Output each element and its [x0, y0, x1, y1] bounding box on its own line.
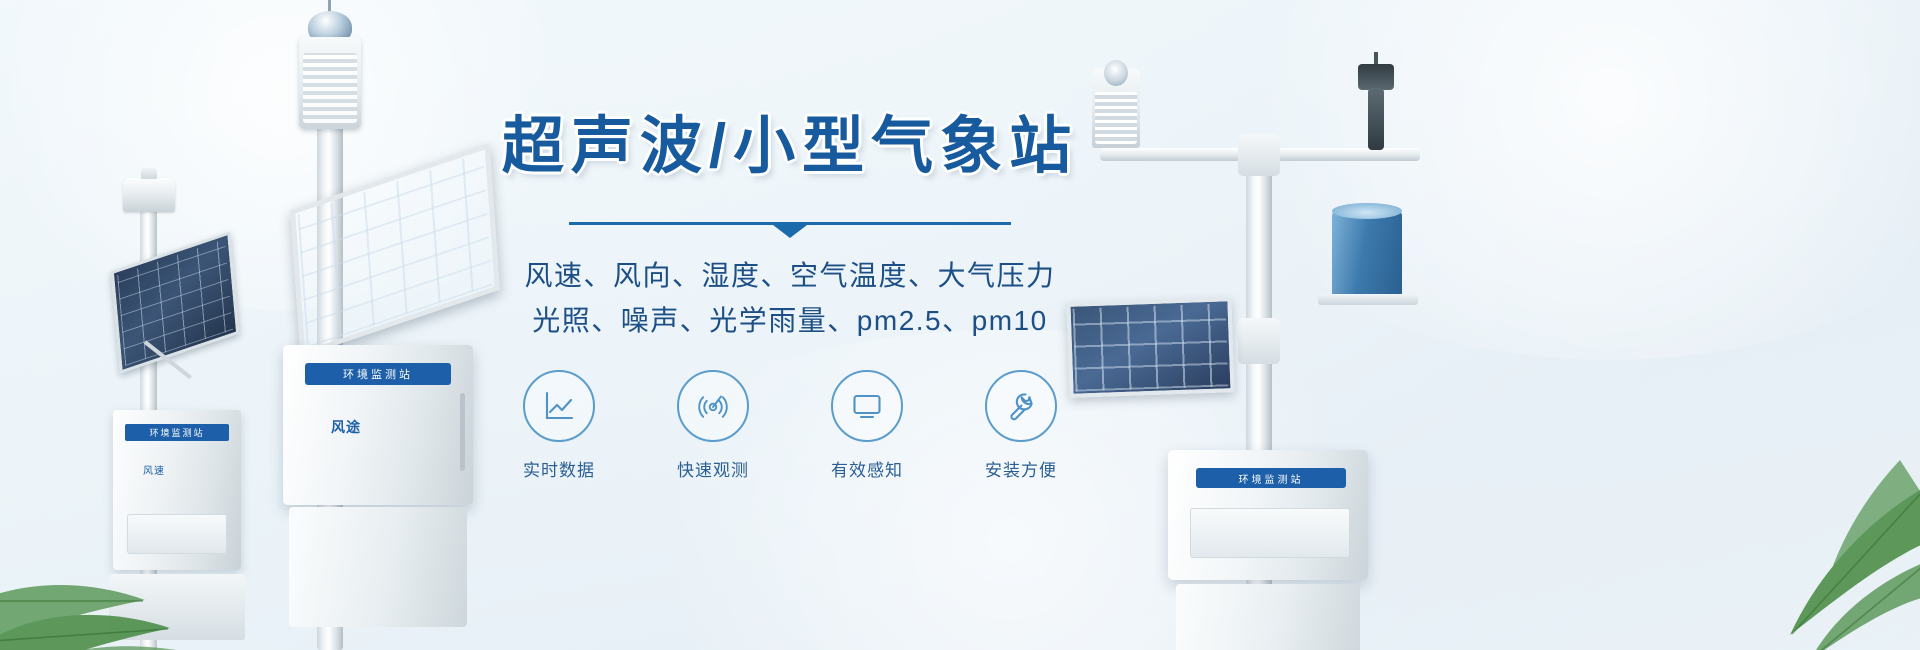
feature-item-easy-installation[interactable]: 安装方便	[967, 370, 1075, 481]
cabinet-label: 环境监测站	[1196, 468, 1346, 488]
solar-panel	[111, 231, 240, 374]
banner-content: 超声波/小型气象站 风速、风向、湿度、空气温度、大气压力 光照、噪声、光学雨量、…	[440, 0, 1140, 650]
rain-gauge-platform	[1318, 294, 1418, 305]
feature-item-effective-sensing[interactable]: 有效感知	[813, 370, 921, 481]
subtitle-line-2: 光照、噪声、光学雨量、pm2.5、pm10	[524, 298, 1055, 343]
vane-top	[1358, 64, 1394, 90]
monitor-icon	[849, 388, 885, 424]
feature-icon-ring	[831, 370, 903, 442]
vane-body	[1368, 88, 1384, 150]
feature-label: 实时数据	[523, 456, 595, 481]
cabinet-label: 环境监测站	[305, 363, 451, 385]
cabinet-vent	[1190, 508, 1350, 558]
cabinet-lower-section	[1176, 584, 1360, 650]
cabinet-vent	[127, 514, 227, 554]
feature-icon-ring	[985, 370, 1057, 442]
feature-icon-ring	[677, 370, 749, 442]
title-divider	[569, 222, 1011, 225]
product-banner: 环境监测站 风速 环境监测站 风途	[0, 0, 1920, 650]
feature-item-realtime-data[interactable]: 实时数据	[505, 370, 613, 481]
brand-label: 风速	[143, 462, 165, 477]
control-cabinet: 环境监测站 风速	[113, 410, 241, 570]
feature-label: 安装方便	[985, 456, 1057, 481]
rain-gauge-sensor	[1332, 210, 1402, 296]
wrench-icon	[1003, 388, 1039, 424]
cabinet-base	[109, 574, 245, 640]
subtitle-line-1: 风速、风向、湿度、空气温度、大气压力	[524, 253, 1055, 298]
ultrasonic-sensor-head	[123, 178, 175, 212]
page-title: 超声波/小型气象站	[502, 116, 1078, 178]
subtitle-block: 风速、风向、湿度、空气温度、大气压力 光照、噪声、光学雨量、pm2.5、pm10	[524, 253, 1055, 344]
control-cabinet: 环境监测站	[1168, 450, 1368, 580]
feature-list: 实时数据 快速观测	[505, 370, 1075, 481]
mast-collar	[1238, 134, 1280, 176]
radiation-shield-sensor	[299, 37, 361, 129]
feature-label: 快速观测	[677, 456, 749, 481]
cabinet-label: 环境监测站	[125, 424, 229, 441]
line-chart-icon	[541, 388, 577, 424]
brand-label: 风途	[331, 417, 361, 437]
radar-signal-icon	[695, 388, 731, 424]
feature-icon-ring	[523, 370, 595, 442]
feature-label: 有效感知	[831, 456, 903, 481]
mast-collar	[1238, 318, 1280, 364]
wind-vane-sensor	[1356, 58, 1396, 150]
feature-item-fast-observation[interactable]: 快速观测	[659, 370, 767, 481]
